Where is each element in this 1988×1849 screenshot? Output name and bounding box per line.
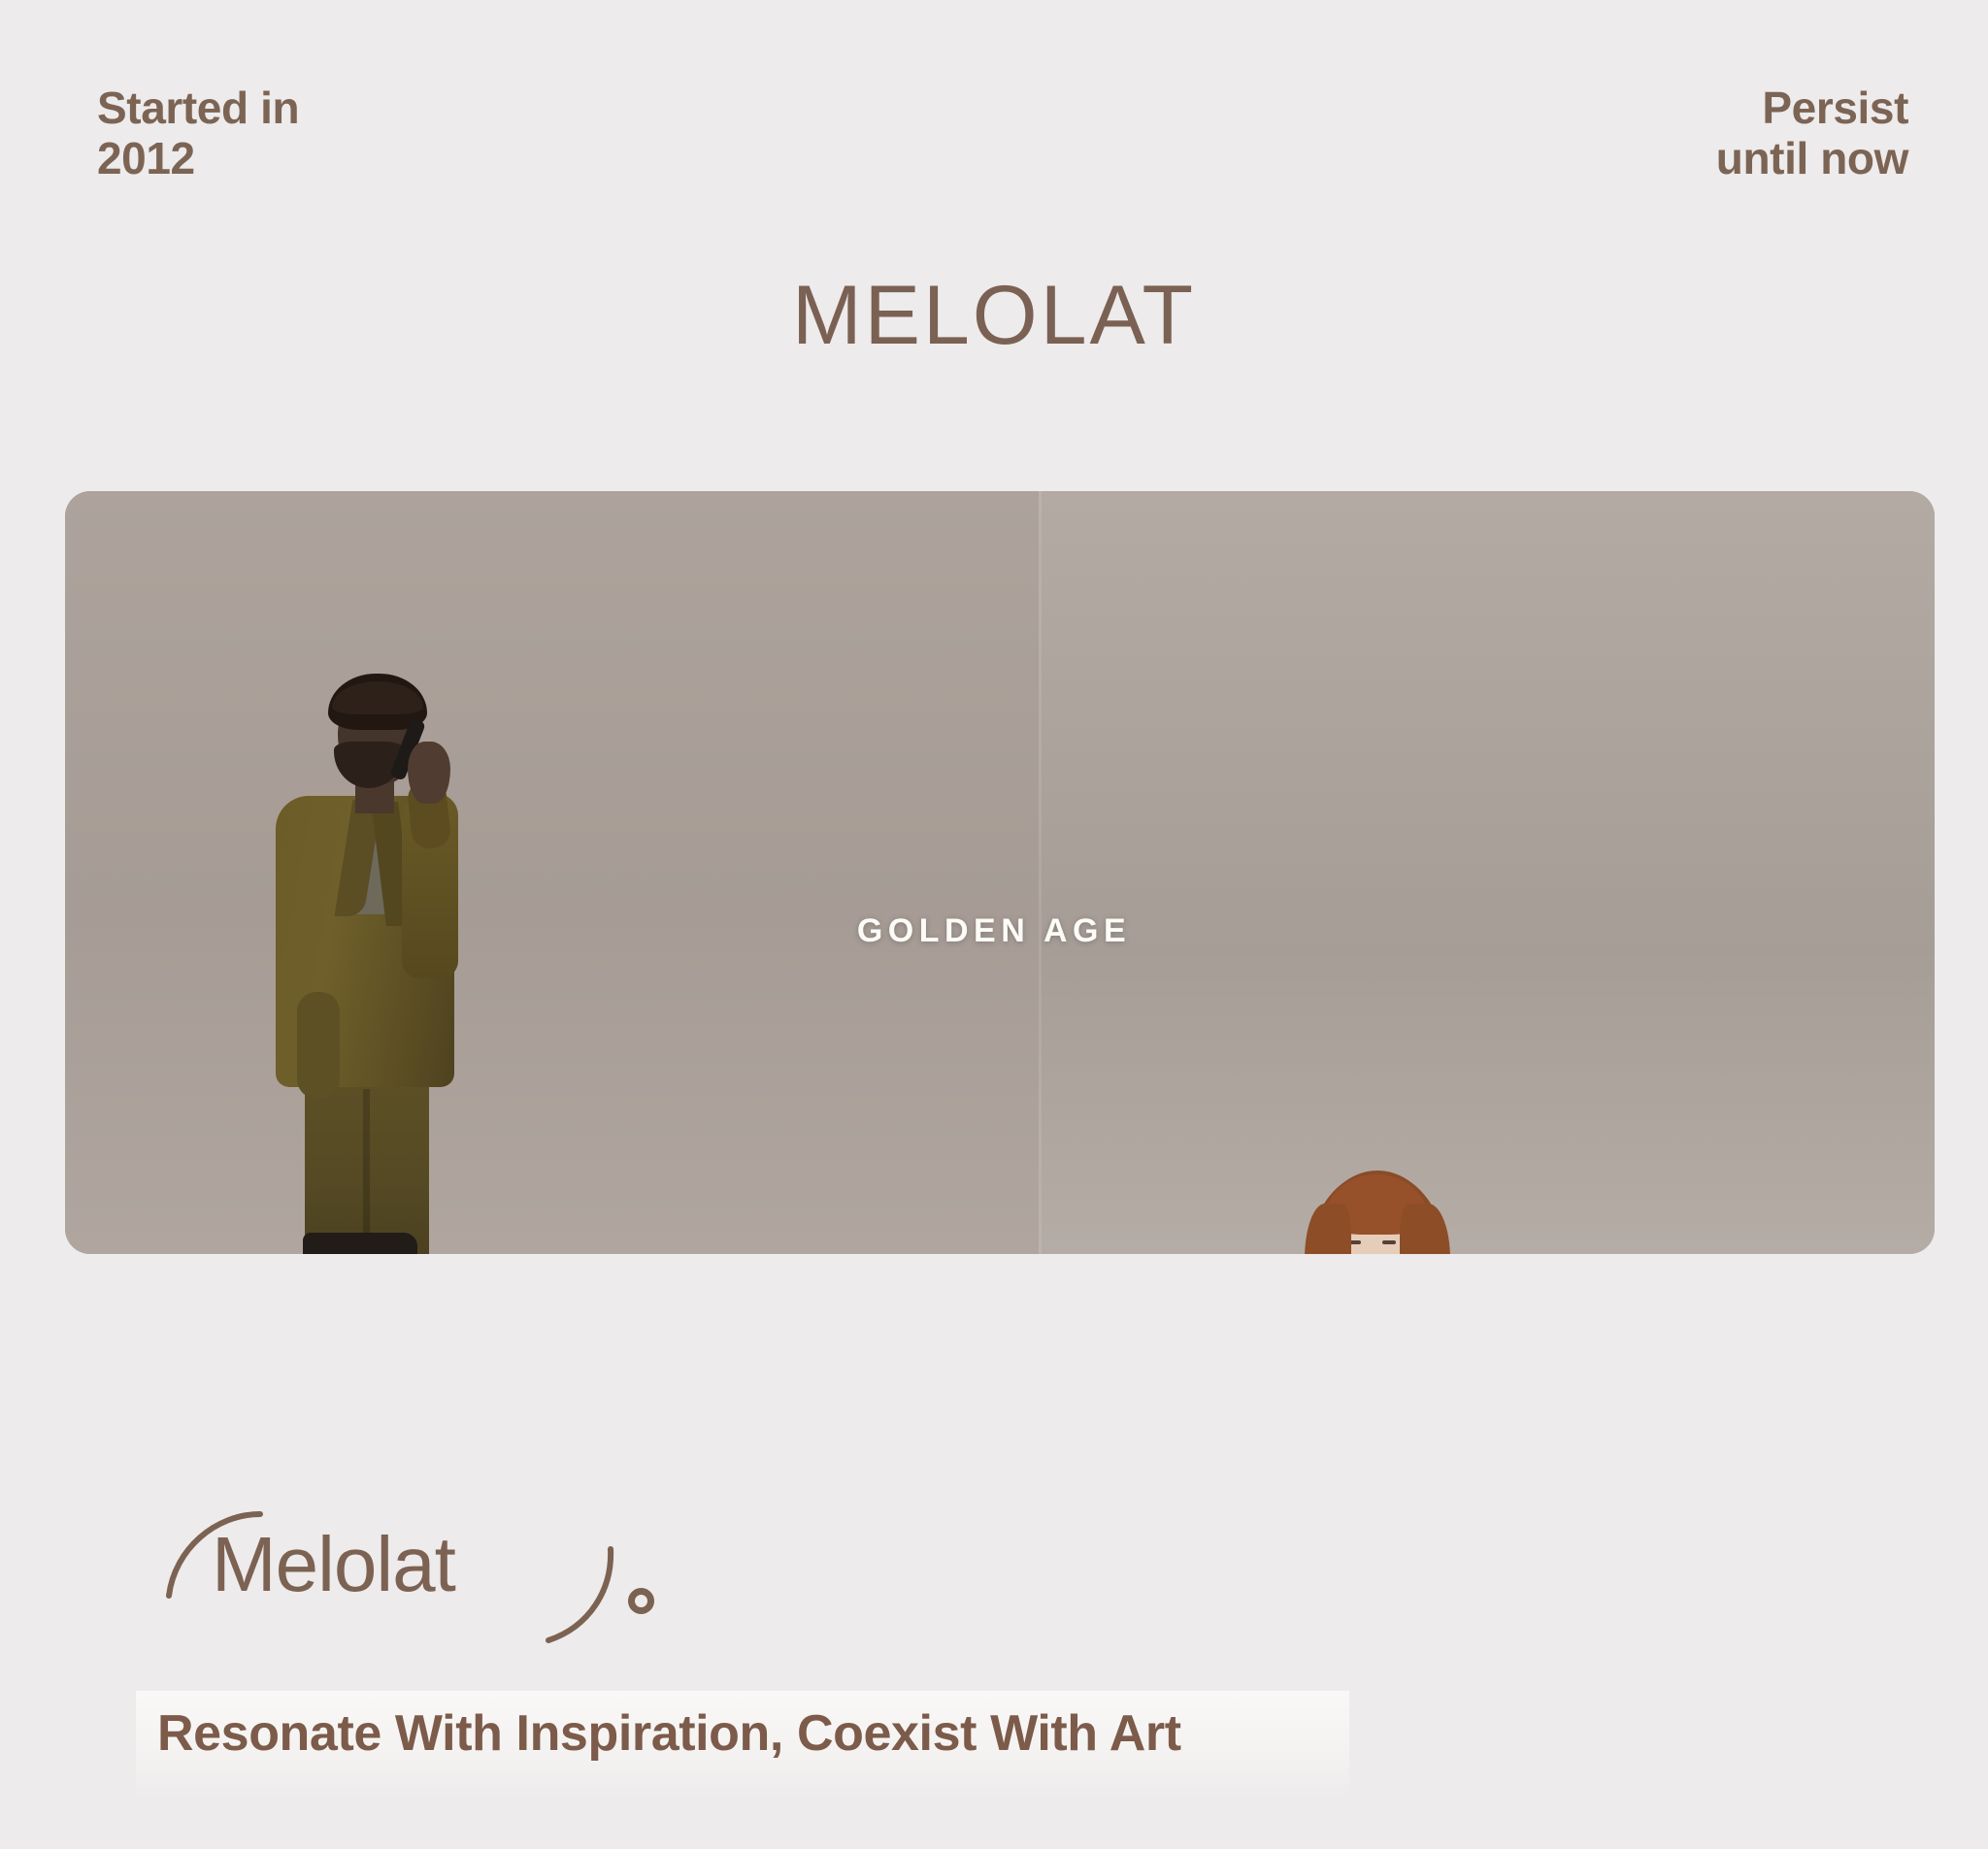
logo-wordmark: Melolat: [212, 1526, 455, 1603]
man-leg-seam: [363, 1089, 370, 1235]
melolat-logo: Melolat: [155, 1506, 650, 1633]
hero-image: [65, 491, 1935, 1254]
logo-dot-icon: [628, 1588, 654, 1614]
figure-man: [254, 672, 478, 1254]
woman-hair-right: [1400, 1204, 1450, 1254]
hero-left-panel: [65, 491, 1039, 1254]
woman-eye-right: [1382, 1240, 1396, 1244]
header-right-note: Persist until now: [1716, 83, 1908, 183]
figure-woman: [1215, 1171, 1536, 1254]
tagline: Resonate With Inspiration, Coexist With …: [157, 1704, 1181, 1763]
man-shoe: [303, 1233, 417, 1254]
header-left-note: Started in 2012: [97, 83, 299, 183]
hero-right-panel: [1039, 491, 1935, 1254]
hero-split-seam: [1039, 491, 1042, 1254]
poster-canvas: Started in 2012 Persist until now MELOLA…: [0, 0, 1988, 1849]
woman-hair-left: [1305, 1204, 1351, 1254]
brand-title: MELOLAT: [0, 268, 1988, 364]
man-hand: [408, 742, 450, 804]
man-bag-arm: [297, 992, 340, 1099]
hero-overlay-caption: GOLDEN AGE: [0, 912, 1988, 950]
